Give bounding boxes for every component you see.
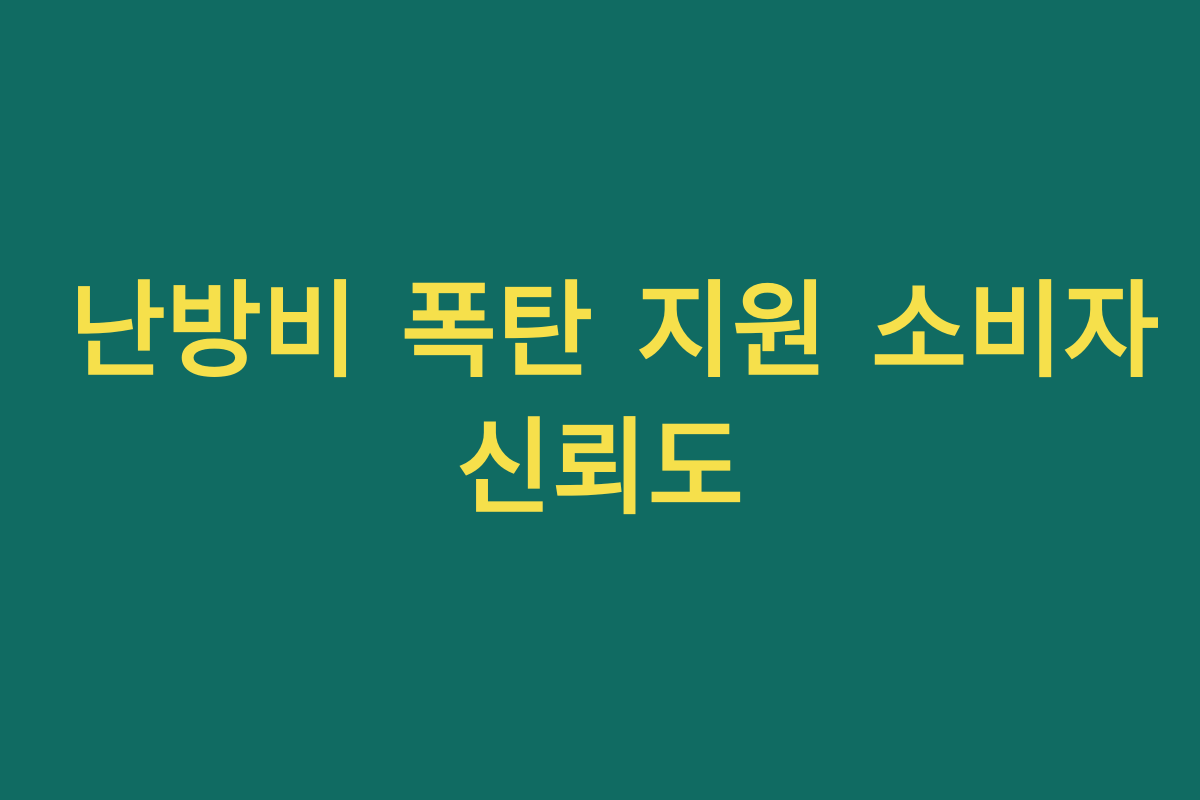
title-line-2: 신뢰도 — [70, 400, 1130, 537]
page-title: 난방비 폭탄 지원 소비자 신뢰도 — [70, 263, 1130, 538]
title-line-1: 난방비 폭탄 지원 소비자 — [70, 263, 1130, 400]
title-banner: 난방비 폭탄 지원 소비자 신뢰도 — [0, 0, 1200, 800]
